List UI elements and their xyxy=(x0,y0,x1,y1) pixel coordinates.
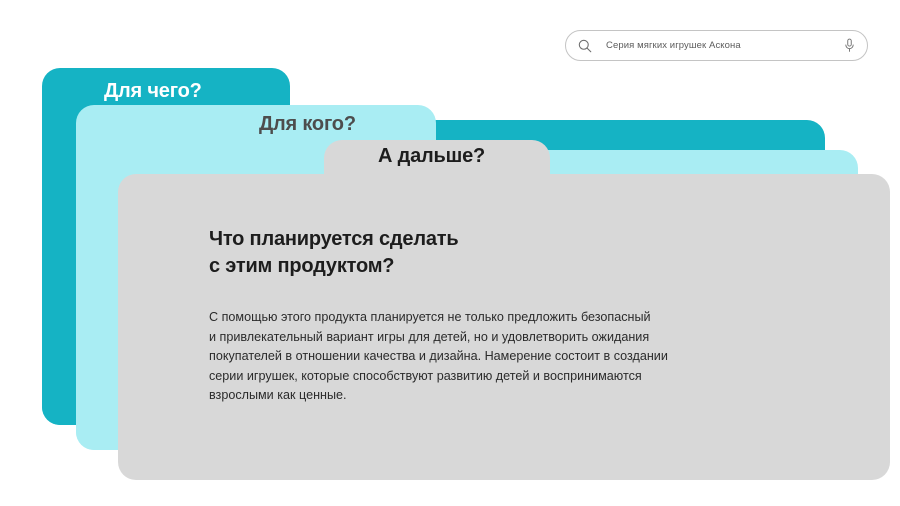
microphone-icon[interactable] xyxy=(843,38,856,53)
panel-body-line-5: взрослыми как ценные. xyxy=(209,386,799,406)
panel-heading-line-1: Что планируется сделать xyxy=(209,226,729,253)
panel-body: С помощью этого продукта планируется не … xyxy=(209,308,799,406)
panel-body-line-1: С помощью этого продукта планируется не … xyxy=(209,308,799,328)
panel-heading-line-2: с этим продуктом? xyxy=(209,253,729,280)
panel-body-line-4: серии игрушек, которые способствуют разв… xyxy=(209,367,799,387)
card-title-dlya-chego: Для чего? xyxy=(104,80,202,103)
search-input[interactable]: Серия мягких игрушек Аскона xyxy=(606,40,843,51)
panel-body-line-3: покупателей в отношении качества и дизай… xyxy=(209,347,799,367)
search-bar[interactable]: Серия мягких игрушек Аскона xyxy=(565,30,868,61)
search-icon xyxy=(578,39,592,53)
panel-body-line-2: и привлекательный вариант игры для детей… xyxy=(209,328,799,348)
card-title-dlya-kogo: Для кого? xyxy=(259,113,356,136)
card-title-a-dalshe: А дальше? xyxy=(378,145,485,168)
panel-heading: Что планируется сделать с этим продуктом… xyxy=(209,226,729,280)
slide-canvas: Серия мягких игрушек Аскона Для чего? Дл… xyxy=(0,0,900,506)
